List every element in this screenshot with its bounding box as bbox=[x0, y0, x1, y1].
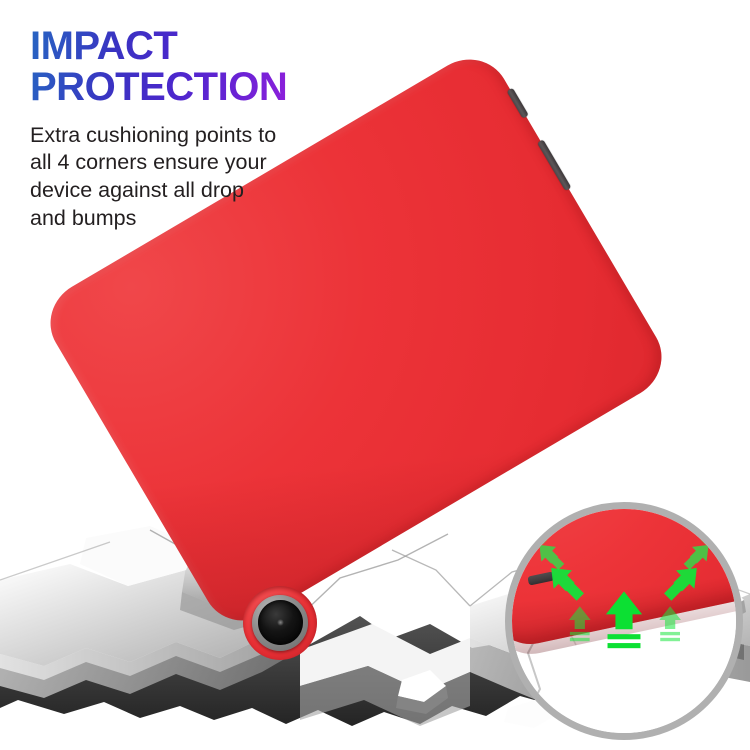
arrow-up-left-small bbox=[524, 521, 550, 547]
arrow-up-center-block bbox=[606, 591, 642, 648]
body-copy: Extra cushioning points to all 4 corners… bbox=[30, 122, 330, 233]
arrow-up-right-medium bbox=[679, 538, 716, 575]
volume-button bbox=[537, 139, 571, 191]
arrow-up-right-large bbox=[659, 559, 706, 606]
arrow-up-right-small bbox=[698, 521, 724, 547]
page-title: IMPACTPROTECTION bbox=[30, 26, 360, 108]
text-block: IMPACTPROTECTION Extra cushioning points… bbox=[30, 26, 360, 233]
headline-line-2: PROTECTION bbox=[30, 67, 360, 108]
arrow-up-left-block bbox=[569, 606, 591, 641]
corner-cushion-detail-inset bbox=[505, 502, 743, 740]
headline-line-1: IMPACT bbox=[30, 24, 177, 68]
product-feature-image: IMPACTPROTECTION Extra cushioning points… bbox=[0, 0, 750, 750]
arrow-up-right-block bbox=[659, 606, 681, 641]
arrow-up-left-large bbox=[542, 559, 589, 606]
rear-camera-cutout bbox=[243, 586, 317, 660]
arrow-up-left-medium bbox=[532, 538, 569, 575]
power-button bbox=[507, 88, 529, 119]
impact-force-arrows bbox=[512, 509, 736, 733]
camera-lens-glint bbox=[277, 619, 284, 626]
